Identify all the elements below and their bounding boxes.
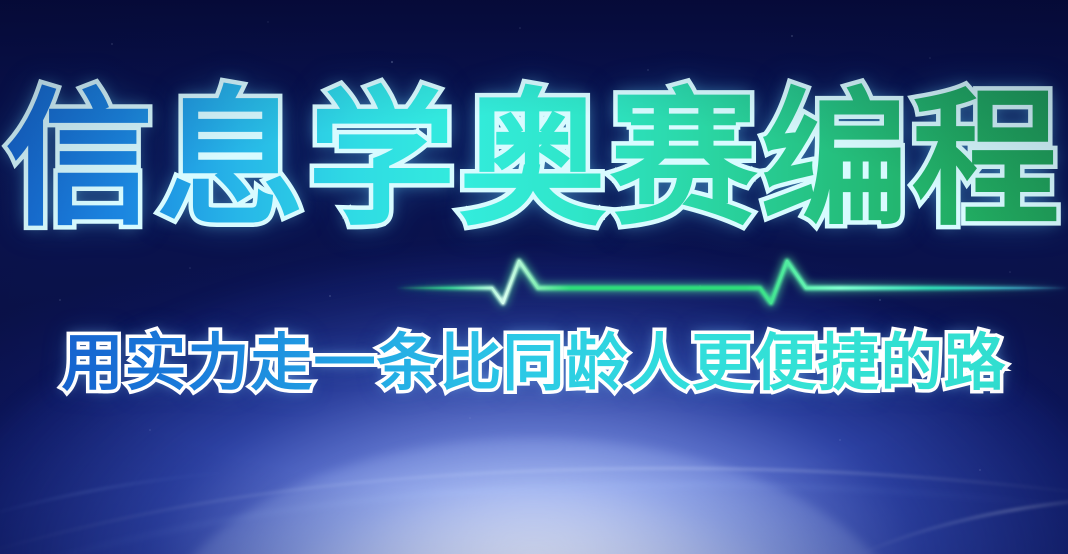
promo-banner: 信息学奥赛编程 信息学奥赛编程: [0, 0, 1068, 554]
background-vignette: [0, 0, 1068, 554]
